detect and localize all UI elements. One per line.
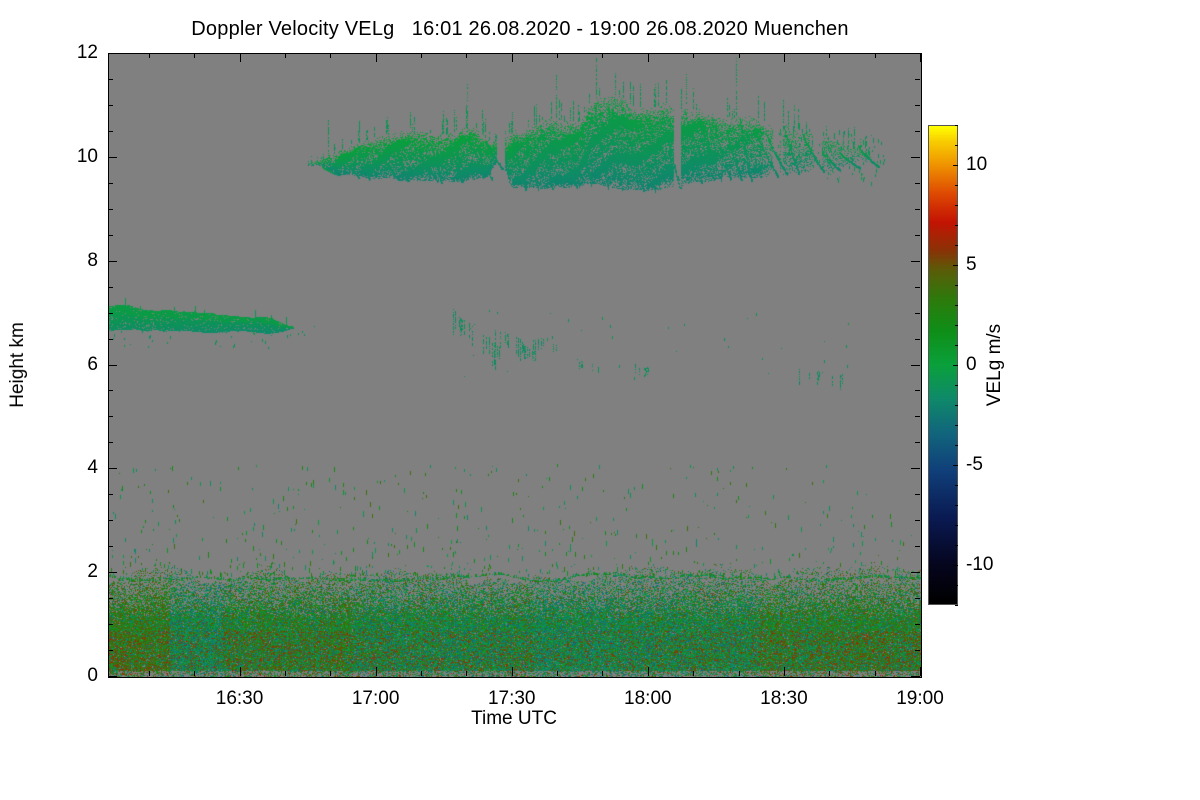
x-tick-minor-top	[739, 53, 740, 58]
y-tick-label: 12	[8, 42, 98, 64]
y-tick-minor	[108, 131, 113, 132]
colorbar-tick-minor	[955, 445, 958, 446]
y-tick-label: 0	[8, 665, 98, 687]
colorbar-tick-minor	[955, 205, 958, 206]
colorbar-tick-minor	[955, 305, 958, 306]
y-tick-minor-right	[915, 131, 920, 132]
colorbar-tick-minor	[955, 125, 958, 126]
y-tick-minor	[108, 235, 113, 236]
x-tick-major-top	[512, 53, 513, 62]
y-tick-label: 4	[8, 457, 98, 479]
plot-area	[108, 53, 922, 678]
y-tick-minor	[108, 442, 113, 443]
colorbar-tick	[953, 465, 958, 466]
y-tick-minor	[108, 313, 113, 314]
colorbar-tick-minor	[955, 225, 958, 226]
colorbar-tick-label: 0	[966, 354, 977, 376]
x-axis-title: Time UTC	[108, 708, 920, 730]
x-tick-minor-top	[557, 53, 558, 58]
y-tick-minor	[108, 598, 113, 599]
colorbar-tick	[953, 165, 958, 166]
x-tick-minor	[149, 671, 150, 676]
x-tick-minor-top	[829, 53, 830, 58]
colorbar-tick-minor	[955, 285, 958, 286]
x-tick-major-top	[648, 53, 649, 62]
y-tick-major	[108, 365, 117, 366]
x-tick-minor-top	[875, 53, 876, 58]
y-tick-minor-right	[915, 183, 920, 184]
y-tick-major	[108, 157, 117, 158]
y-tick-minor-right	[915, 105, 920, 106]
colorbar-tick-minor	[955, 505, 958, 506]
x-tick-minor	[330, 671, 331, 676]
y-tick-minor-right	[915, 339, 920, 340]
colorbar-tick-minor	[955, 525, 958, 526]
y-tick-minor	[108, 339, 113, 340]
y-tick-minor	[108, 105, 113, 106]
x-tick-minor	[194, 671, 195, 676]
colorbar-tick-minor	[955, 605, 958, 606]
colorbar-tick-minor	[955, 325, 958, 326]
x-tick-major	[784, 667, 785, 676]
x-tick-major-top	[240, 53, 241, 62]
colorbar-tick-label: -5	[966, 454, 983, 476]
colorbar-tick-minor	[955, 425, 958, 426]
page-title: Doppler Velocity VELg 16:01 26.08.2020 -…	[0, 18, 1040, 41]
y-tick-major	[108, 676, 117, 677]
x-tick-major-top	[376, 53, 377, 62]
x-tick-label: 17:00	[352, 688, 400, 710]
x-tick-minor-top	[693, 53, 694, 58]
x-tick-minor-top	[149, 53, 150, 58]
y-tick-major-right	[911, 468, 920, 469]
y-tick-major-right	[911, 53, 920, 54]
y-tick-minor	[108, 416, 113, 417]
x-tick-minor	[829, 671, 830, 676]
x-tick-minor-top	[194, 53, 195, 58]
x-tick-major	[920, 667, 921, 676]
y-tick-major-right	[911, 157, 920, 158]
y-tick-minor-right	[915, 390, 920, 391]
x-tick-minor-top	[421, 53, 422, 58]
colorbar-tick-label: 10	[966, 154, 987, 176]
x-tick-minor	[285, 671, 286, 676]
x-tick-minor-top	[602, 53, 603, 58]
x-tick-minor-top	[466, 53, 467, 58]
y-tick-minor-right	[915, 624, 920, 625]
colorbar-tick-label: -10	[966, 554, 993, 576]
y-tick-minor-right	[915, 287, 920, 288]
colorbar-tick-minor	[955, 585, 958, 586]
x-tick-minor	[466, 671, 467, 676]
x-tick-minor	[602, 671, 603, 676]
y-tick-major-right	[911, 676, 920, 677]
y-tick-label: 8	[8, 250, 98, 272]
y-tick-major-right	[911, 572, 920, 573]
y-tick-minor-right	[915, 416, 920, 417]
x-tick-label: 19:00	[896, 688, 944, 710]
x-tick-label: 17:30	[488, 688, 536, 710]
x-tick-major-top	[784, 53, 785, 62]
colorbar-tick	[953, 565, 958, 566]
y-tick-label: 2	[8, 561, 98, 583]
x-tick-major	[648, 667, 649, 676]
y-tick-minor-right	[915, 520, 920, 521]
y-tick-minor-right	[915, 313, 920, 314]
y-tick-minor	[108, 209, 113, 210]
y-tick-label: 10	[8, 146, 98, 168]
y-tick-minor-right	[915, 235, 920, 236]
x-tick-major	[240, 667, 241, 676]
x-tick-minor	[739, 671, 740, 676]
colorbar-tick-label: 5	[966, 254, 977, 276]
radar-heatmap-canvas	[109, 54, 921, 677]
x-tick-major	[512, 667, 513, 676]
y-tick-minor-right	[915, 494, 920, 495]
y-tick-minor	[108, 287, 113, 288]
y-tick-major-right	[911, 365, 920, 366]
colorbar-tick-minor	[955, 545, 958, 546]
y-tick-minor-right	[915, 650, 920, 651]
y-tick-minor-right	[915, 209, 920, 210]
colorbar-tick-minor	[955, 345, 958, 346]
x-tick-minor	[557, 671, 558, 676]
x-tick-minor	[421, 671, 422, 676]
colorbar-tick-minor	[955, 385, 958, 386]
x-tick-major-top	[920, 53, 921, 62]
y-tick-minor-right	[915, 442, 920, 443]
x-tick-label: 18:30	[760, 688, 808, 710]
y-tick-major	[108, 53, 117, 54]
x-tick-major	[376, 667, 377, 676]
y-tick-minor	[108, 520, 113, 521]
x-tick-minor-top	[330, 53, 331, 58]
y-tick-minor-right	[915, 546, 920, 547]
x-tick-label: 16:30	[216, 688, 264, 710]
colorbar-tick	[953, 265, 958, 266]
colorbar-tick	[953, 365, 958, 366]
doppler-velocity-chart: Doppler Velocity VELg 16:01 26.08.2020 -…	[0, 0, 1200, 800]
y-tick-minor-right	[915, 598, 920, 599]
colorbar-tick-minor	[955, 185, 958, 186]
y-tick-minor	[108, 624, 113, 625]
y-tick-major-right	[911, 261, 920, 262]
y-tick-major	[108, 572, 117, 573]
y-tick-minor	[108, 546, 113, 547]
y-tick-minor	[108, 183, 113, 184]
y-tick-minor	[108, 79, 113, 80]
colorbar-tick-minor	[955, 405, 958, 406]
y-tick-major	[108, 468, 117, 469]
y-axis-title: Height km	[7, 322, 29, 408]
x-tick-minor	[693, 671, 694, 676]
y-tick-major	[108, 261, 117, 262]
x-tick-minor-top	[285, 53, 286, 58]
x-tick-label: 18:00	[624, 688, 672, 710]
colorbar-tick-minor	[955, 245, 958, 246]
x-tick-minor	[875, 671, 876, 676]
y-tick-minor	[108, 650, 113, 651]
y-tick-minor	[108, 494, 113, 495]
colorbar-tick-minor	[955, 485, 958, 486]
y-tick-minor-right	[915, 79, 920, 80]
y-tick-minor	[108, 390, 113, 391]
colorbar-title: VELg m/s	[984, 324, 1006, 406]
colorbar-tick-minor	[955, 145, 958, 146]
